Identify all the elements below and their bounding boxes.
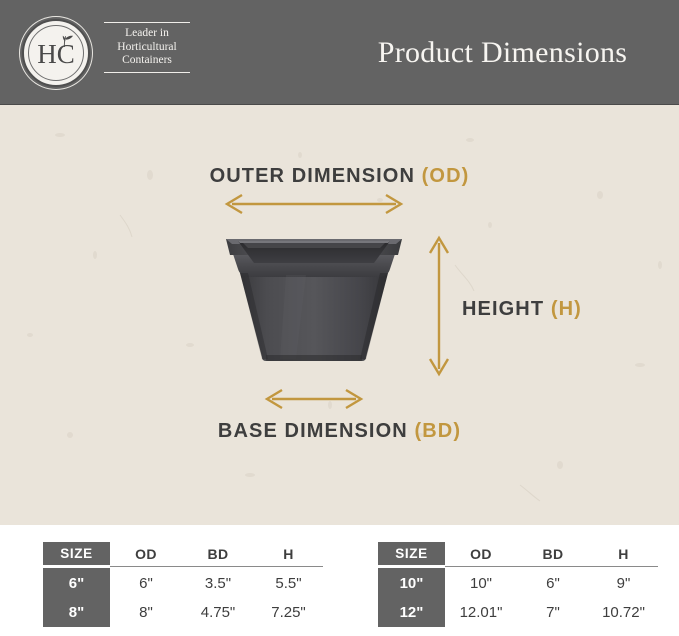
outer-dimension-label: OUTER DIMENSION (OD) [0,165,679,188]
row-h-value: 10.72" [589,604,658,621]
col-header-bd: BD [182,546,254,562]
row-od-value: 10" [445,575,517,592]
outer-dimension-abbr: (OD) [422,165,470,187]
outer-dimension-text: OUTER DIMENSION [210,165,415,187]
base-dimension-text: BASE DIMENSION [218,420,408,442]
logo-tagline-text: Leader in Horticultural Containers [102,23,192,72]
height-abbr: (H) [551,298,582,320]
row-h-value: 9" [589,575,658,592]
row-bd-value: 6" [517,575,589,592]
row-h-value: 7.25" [254,604,323,621]
row-od-value: 6" [110,575,182,592]
row-od-value: 8" [110,604,182,621]
row-size-value: 12" [378,604,445,621]
row-size-value: 10" [378,575,445,592]
col-header-od: OD [110,546,182,562]
square-planter-pot [222,229,406,365]
logo-rule-bottom [104,72,190,73]
size-table-right: SIZE OD BD H 10" 10" 6" 9" 12" 12.01" 7"… [378,542,658,627]
outer-dimension-arrow [222,193,406,215]
row-od-value: 12.01" [445,604,517,621]
base-dimension-abbr: (BD) [414,420,461,442]
col-header-h: H [589,546,658,562]
base-dimension-label: BASE DIMENSION (BD) [0,420,679,443]
header-bar: HC Leader in Horticultural Containers Pr… [0,0,679,105]
row-bd-value: 3.5" [182,575,254,592]
size-table-left: SIZE OD BD H 6" 6" 3.5" 5.5" 8" 8" 4.75"… [43,542,323,627]
diagram-panel: OUTER DIMENSION (OD) [0,105,679,525]
col-header-size: SIZE [43,546,110,561]
table-cells: SIZE OD BD H 10" 10" 6" 9" 12" 12.01" 7"… [378,542,658,627]
product-dimensions-infographic: HC Leader in Horticultural Containers Pr… [0,0,679,636]
col-header-h: H [254,546,323,562]
logo-tagline-block: Leader in Horticultural Containers [102,22,194,73]
row-h-value: 5.5" [254,575,323,592]
base-dimension-arrow [263,388,365,410]
row-size-value: 6" [43,575,110,592]
logo-circle-mark: HC [22,19,90,87]
table-cells: SIZE OD BD H 6" 6" 3.5" 5.5" 8" 8" 4.75"… [43,542,323,627]
col-header-bd: BD [517,546,589,562]
height-text: HEIGHT [462,298,544,320]
height-arrow [428,233,450,379]
row-bd-value: 7" [517,604,589,621]
page-title: Product Dimensions [340,36,665,70]
brand-logo: HC Leader in Horticultural Containers [22,16,192,90]
col-header-size: SIZE [378,546,445,561]
leaf-sprout-icon [56,34,74,48]
row-bd-value: 4.75" [182,604,254,621]
dimension-diagram: OUTER DIMENSION (OD) [0,105,679,525]
col-header-od: OD [445,546,517,562]
height-label: HEIGHT (H) [462,298,582,321]
row-size-value: 8" [43,604,110,621]
